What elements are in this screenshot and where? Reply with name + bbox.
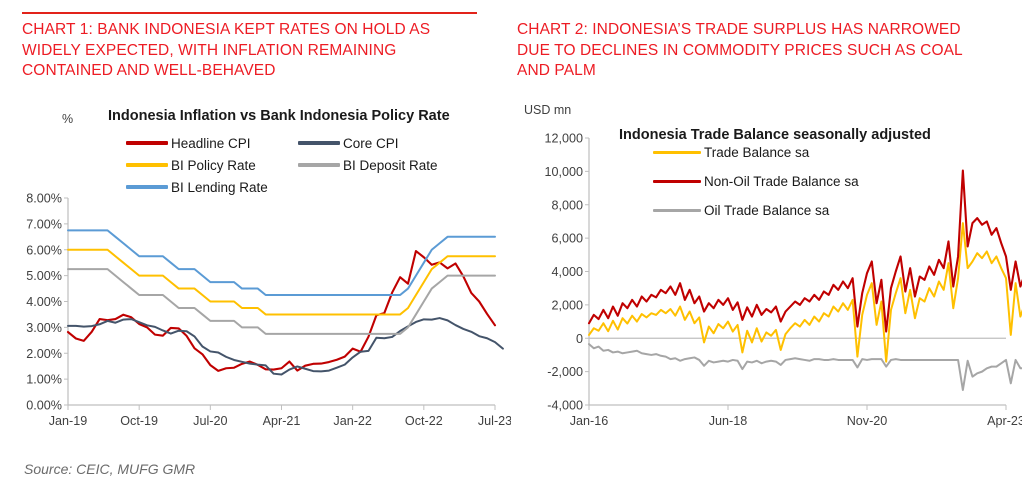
chart-2-heading: CHART 2: INDONESIA’S TRADE SURPLUS HAS N…: [517, 20, 987, 82]
svg-text:-4,000: -4,000: [547, 399, 583, 413]
chart-1-source: Source: CEIC, MUFG GMR: [24, 461, 195, 477]
panel-divider-rule: [22, 12, 477, 14]
chart-panel-2: CHART 2: INDONESIA’S TRADE SURPLUS HAS N…: [511, 0, 1022, 493]
svg-text:-2,000: -2,000: [547, 365, 583, 379]
svg-text:7.00%: 7.00%: [26, 217, 62, 231]
svg-text:Apr-23: Apr-23: [987, 414, 1022, 428]
chart-2-plot-area: USD mn Indonesia Trade Balance seasonall…: [511, 100, 1022, 445]
svg-text:Jul-20: Jul-20: [193, 414, 227, 428]
svg-text:Jul-23: Jul-23: [478, 414, 511, 428]
svg-text:Jan-19: Jan-19: [49, 414, 88, 428]
svg-text:Jan-22: Jan-22: [333, 414, 372, 428]
svg-text:10,000: 10,000: [544, 165, 583, 179]
svg-text:4.00%: 4.00%: [26, 295, 62, 309]
svg-text:0.00%: 0.00%: [26, 399, 62, 413]
svg-text:8,000: 8,000: [551, 198, 583, 212]
charts-page: CHART 1: BANK INDONESIA KEPT RATES ON HO…: [0, 0, 1022, 493]
svg-text:1.00%: 1.00%: [26, 373, 62, 387]
svg-text:5.00%: 5.00%: [26, 269, 62, 283]
svg-text:Oct-19: Oct-19: [120, 414, 158, 428]
svg-text:3.00%: 3.00%: [26, 321, 62, 335]
svg-text:Nov-20: Nov-20: [847, 414, 888, 428]
svg-text:Apr-21: Apr-21: [263, 414, 301, 428]
chart-1-plot-area: % Indonesia Inflation vs Bank Indonesia …: [0, 100, 511, 445]
svg-text:Oct-22: Oct-22: [405, 414, 443, 428]
svg-text:Jun-18: Jun-18: [709, 414, 748, 428]
svg-text:6,000: 6,000: [551, 232, 583, 246]
chart-panel-1: CHART 1: BANK INDONESIA KEPT RATES ON HO…: [0, 0, 511, 493]
svg-text:4,000: 4,000: [551, 265, 583, 279]
svg-text:2.00%: 2.00%: [26, 347, 62, 361]
svg-text:6.00%: 6.00%: [26, 243, 62, 257]
svg-text:12,000: 12,000: [544, 132, 583, 146]
chart-1-heading: CHART 1: BANK INDONESIA KEPT RATES ON HO…: [22, 20, 484, 82]
chart-1-svg: 0.00%1.00%2.00%3.00%4.00%5.00%6.00%7.00%…: [0, 100, 511, 445]
svg-text:2,000: 2,000: [551, 298, 583, 312]
svg-text:0: 0: [576, 332, 583, 346]
svg-text:8.00%: 8.00%: [26, 192, 62, 206]
chart-2-svg: -4,000-2,00002,0004,0006,0008,00010,0001…: [511, 100, 1022, 445]
svg-text:Jan-16: Jan-16: [570, 414, 609, 428]
